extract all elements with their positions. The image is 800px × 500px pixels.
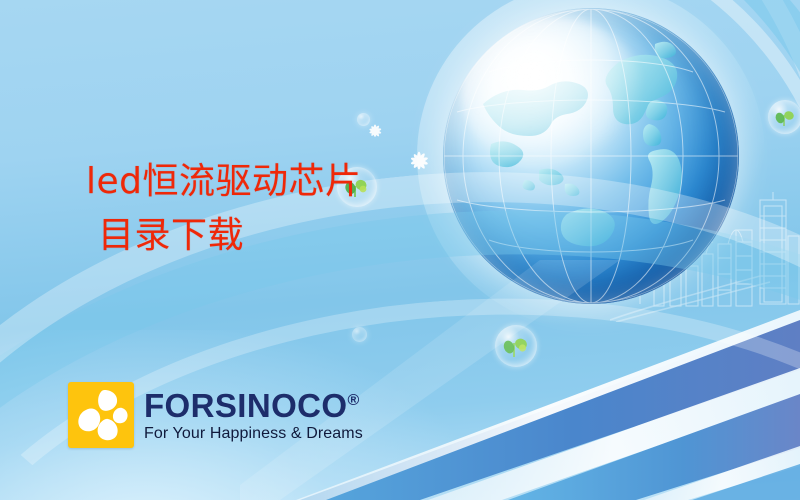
green-sprout-icon-2 bbox=[502, 335, 530, 359]
banner-canvas: led恒流驱动芯片 目录下载 FORSINOCO® For Your Happi… bbox=[0, 0, 800, 500]
bubble-icon-low bbox=[495, 325, 537, 367]
brand-name: FORSINOCO® bbox=[144, 389, 363, 422]
forsinoco-mark-icon bbox=[68, 382, 134, 448]
headline-line-2: 目录下载 bbox=[86, 214, 362, 258]
bubble-icon-tiny bbox=[357, 113, 370, 126]
registered-mark: ® bbox=[347, 392, 359, 409]
pinwheel-petals-icon bbox=[68, 382, 134, 448]
green-sprout-icon-3 bbox=[774, 108, 796, 128]
brand-wordmark: FORSINOCO® For Your Happiness & Dreams bbox=[144, 389, 363, 442]
bubble-icon-right bbox=[768, 100, 800, 134]
headline-text: led恒流驱动芯片 目录下载 bbox=[86, 160, 362, 258]
brand-name-text: FORSINOCO bbox=[144, 387, 347, 424]
headline-line-1: led恒流驱动芯片 bbox=[86, 160, 362, 204]
brand-logo: FORSINOCO® For Your Happiness & Dreams bbox=[68, 382, 363, 448]
brand-tagline: For Your Happiness & Dreams bbox=[144, 426, 363, 442]
bubble-icon-mini bbox=[352, 327, 367, 342]
